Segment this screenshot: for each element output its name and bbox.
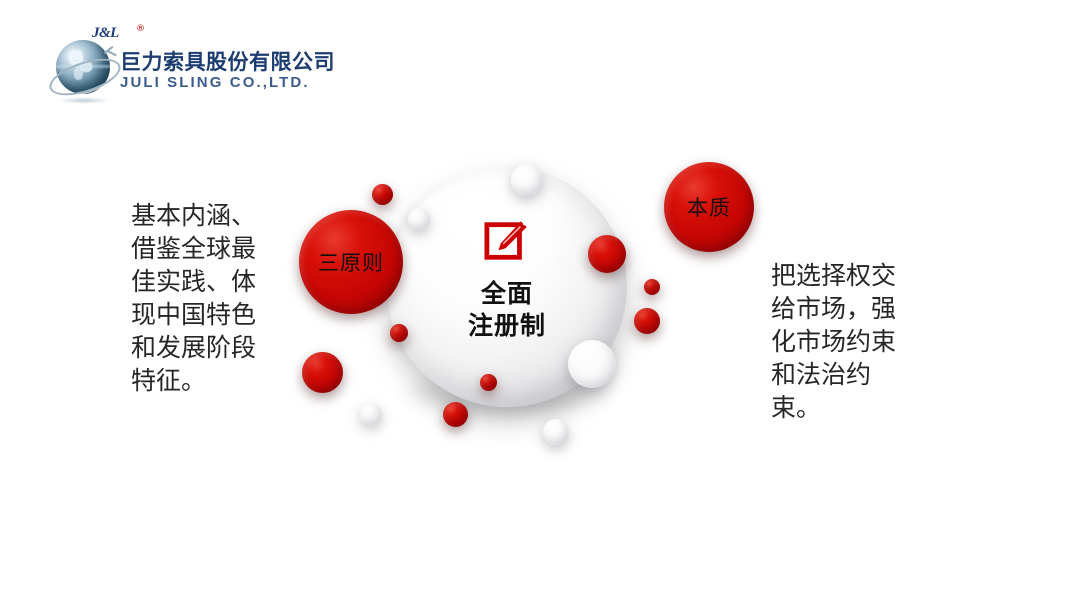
bubble-three-principles-label: 三原则 [299, 247, 403, 277]
center-title: 全面 注册制 [442, 278, 572, 342]
edit-square-pencil-icon [484, 218, 530, 264]
left-description-text: 基本内涵、借鉴全球最佳实践、体现中国特色和发展阶段特征。 [131, 199, 267, 397]
decor-bubble-red-lower-left [302, 352, 343, 393]
globe-shadow [58, 97, 110, 104]
decor-bubble-white-right [568, 340, 616, 388]
infographic-sphere-diagram: 三原则 本质 全面 注册制 [262, 140, 782, 485]
bubble-three-principles[interactable]: 三原则 [299, 210, 403, 314]
logo-company-name-en: JULI SLING CO.,LTD. [120, 74, 310, 91]
logo-jl-mark: J&L [92, 25, 119, 42]
decor-bubble-red-right-upper [588, 235, 626, 273]
decor-bubble-white-bottom [543, 419, 569, 445]
globe-with-sling-icon [48, 38, 120, 104]
center-content: 全面 注册制 [442, 218, 572, 342]
company-logo: J&L ® 巨力索具股份有限公司 JULI SLING CO.,LTD. [48, 24, 338, 104]
decor-bubble-red-left-edge [390, 324, 408, 342]
decor-bubble-white-upper-left [408, 208, 430, 230]
decor-bubble-white-top [511, 164, 543, 196]
decor-bubble-white-lower-left [360, 403, 382, 425]
bubble-essence-label: 本质 [664, 192, 754, 222]
decor-bubble-red-right-lower [634, 308, 660, 334]
logo-company-name-cn: 巨力索具股份有限公司 [120, 46, 335, 76]
right-description-text: 把选择权交给市场，强化市场约束和法治约束。 [771, 259, 907, 424]
decor-bubble-red-right-small [644, 279, 660, 295]
sling-hook-icon [101, 44, 119, 58]
decor-bubble-red-top-left [372, 184, 393, 205]
decor-bubble-red-bottom [443, 402, 468, 427]
bubble-essence[interactable]: 本质 [664, 162, 754, 252]
decor-bubble-red-center-bottom [480, 374, 497, 391]
registered-trademark-icon: ® [136, 24, 145, 34]
